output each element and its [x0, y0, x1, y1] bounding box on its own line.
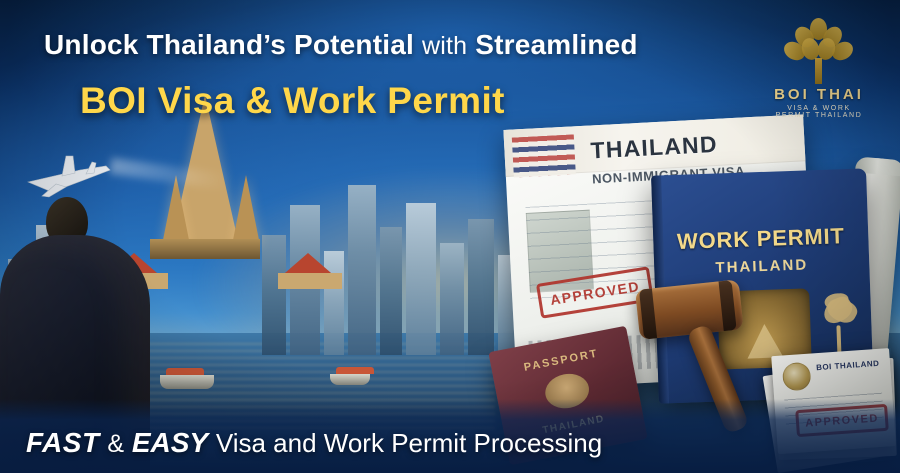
headline-line-2: BOI Visa & Work Permit: [80, 80, 505, 122]
document-heading: BOI THAILAND: [816, 359, 880, 373]
work-permit-title: WORK PERMIT: [653, 222, 869, 255]
headline-part-2: with: [422, 32, 467, 60]
logo-name: BOI THAI: [774, 86, 864, 103]
golden-tree-icon: [784, 18, 854, 84]
thailand-flag-icon: [512, 134, 576, 177]
tagline-ampersand: &: [107, 430, 124, 458]
gold-seal-icon: [782, 362, 812, 392]
logo-subtitle: VISA & WORK PERMIT THAILAND: [774, 105, 864, 119]
river-boat-icon: [330, 374, 370, 385]
headline-part-3: Streamlined: [475, 29, 637, 60]
headline-part-1: Unlock Thailand’s Potential: [44, 29, 414, 60]
river-boat-icon: [160, 375, 214, 389]
tagline-easy: EASY: [132, 427, 208, 458]
headline-line-1: Unlock Thailand’s Potential with Streaml…: [44, 30, 664, 61]
tagline: FAST & EASY Visa and Work Permit Process…: [26, 427, 602, 459]
boi-visa-banner: THAILAND NON-IMMIGRANT VISA APPROVED WOR…: [0, 0, 900, 473]
tagline-rest: Visa and Work Permit Processing: [216, 428, 602, 458]
boi-thai-logo: BOI THAI VISA & WORK PERMIT THAILAND: [774, 18, 864, 122]
tagline-fast: FAST: [26, 427, 100, 458]
